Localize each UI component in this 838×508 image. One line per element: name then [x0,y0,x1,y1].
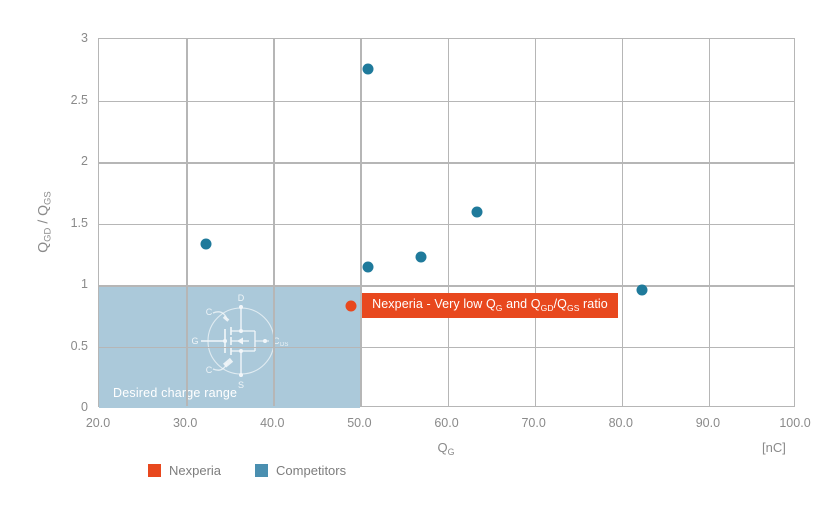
gridline-vertical [186,39,188,406]
legend-entry-nexperia[interactable]: Nexperia [148,463,221,478]
x-tick-label: 20.0 [86,416,110,430]
x-tick-label: 70.0 [521,416,545,430]
nexperia-annotation-callout: Nexperia - Very low QG and QGD/QGS ratio [362,293,618,318]
chart-legend: NexperiaCompetitors [148,463,346,478]
chart-figure: D S G C C C DS Desired charge range Nexp… [0,0,838,508]
gridline-vertical [622,39,624,406]
x-axis-units: [nC] [762,440,786,455]
y-tick-label: 0 [81,400,88,414]
svg-text:G: G [191,336,198,346]
y-tick-label: 2 [81,154,88,168]
y-axis-title-separator: / [35,216,51,228]
data-point-competitors[interactable] [416,251,427,262]
gridline-vertical [273,39,275,406]
x-tick-label: 90.0 [696,416,720,430]
data-point-competitors[interactable] [363,261,374,272]
legend-label: Nexperia [169,463,221,478]
gridline-vertical [360,39,362,406]
desired-charge-range-label: Desired charge range [113,386,237,400]
data-point-competitors[interactable] [201,239,212,250]
y-tick-label: 2.5 [71,93,88,107]
y-axis-title-b: Q [35,205,51,216]
annotation-sub-gd: GD [541,303,554,313]
plot-area: D S G C C C DS Desired charge range Nexp… [98,38,795,407]
data-point-competitors[interactable] [472,207,483,218]
mosfet-symbol: D S G C C C DS [179,291,304,391]
y-axis-title-a: Q [35,242,51,253]
svg-text:D: D [238,293,245,303]
gridline-horizontal [99,285,794,287]
gridline-vertical [448,39,450,406]
y-axis-title: QGD / QGS [35,191,51,252]
gridline-horizontal [99,162,794,164]
annotation-text-part-4: ratio [579,297,607,311]
svg-text:S: S [238,380,244,390]
y-tick-label: 1 [81,277,88,291]
data-point-competitors[interactable] [363,63,374,74]
x-tick-label: 60.0 [434,416,458,430]
x-axis-title-sub: G [448,447,455,457]
data-point-nexperia[interactable] [345,300,356,311]
gridline-vertical [535,39,537,406]
annotation-sub-gs: GS [567,303,579,313]
x-tick-label: 50.0 [347,416,371,430]
x-tick-label: 80.0 [609,416,633,430]
y-axis-title-a-sub: GD [43,228,54,242]
svg-text:C: C [206,307,213,317]
y-tick-label: 3 [81,31,88,45]
y-tick-label: 0.5 [71,339,88,353]
annotation-text-part-1: Nexperia - Very low Q [372,297,496,311]
annotation-text-part-2: and Q [503,297,541,311]
legend-entry-competitors[interactable]: Competitors [255,463,346,478]
legend-label: Competitors [276,463,346,478]
x-tick-label: 40.0 [260,416,284,430]
y-axis-title-b-sub: GS [43,191,54,205]
legend-swatch-icon [148,464,161,477]
x-tick-label: 100.0 [779,416,810,430]
svg-text:C: C [206,365,213,375]
x-tick-label: 30.0 [173,416,197,430]
gridline-horizontal [99,347,794,349]
x-axis-title: QG [438,440,455,455]
legend-swatch-icon [255,464,268,477]
gridline-vertical [709,39,711,406]
x-axis-title-main: Q [438,440,448,455]
gridline-horizontal [99,101,794,103]
annotation-text-part-3: /Q [554,297,567,311]
gridline-horizontal [99,224,794,226]
data-point-competitors[interactable] [636,284,647,295]
annotation-sub-g: G [496,303,503,313]
y-tick-label: 1.5 [71,216,88,230]
